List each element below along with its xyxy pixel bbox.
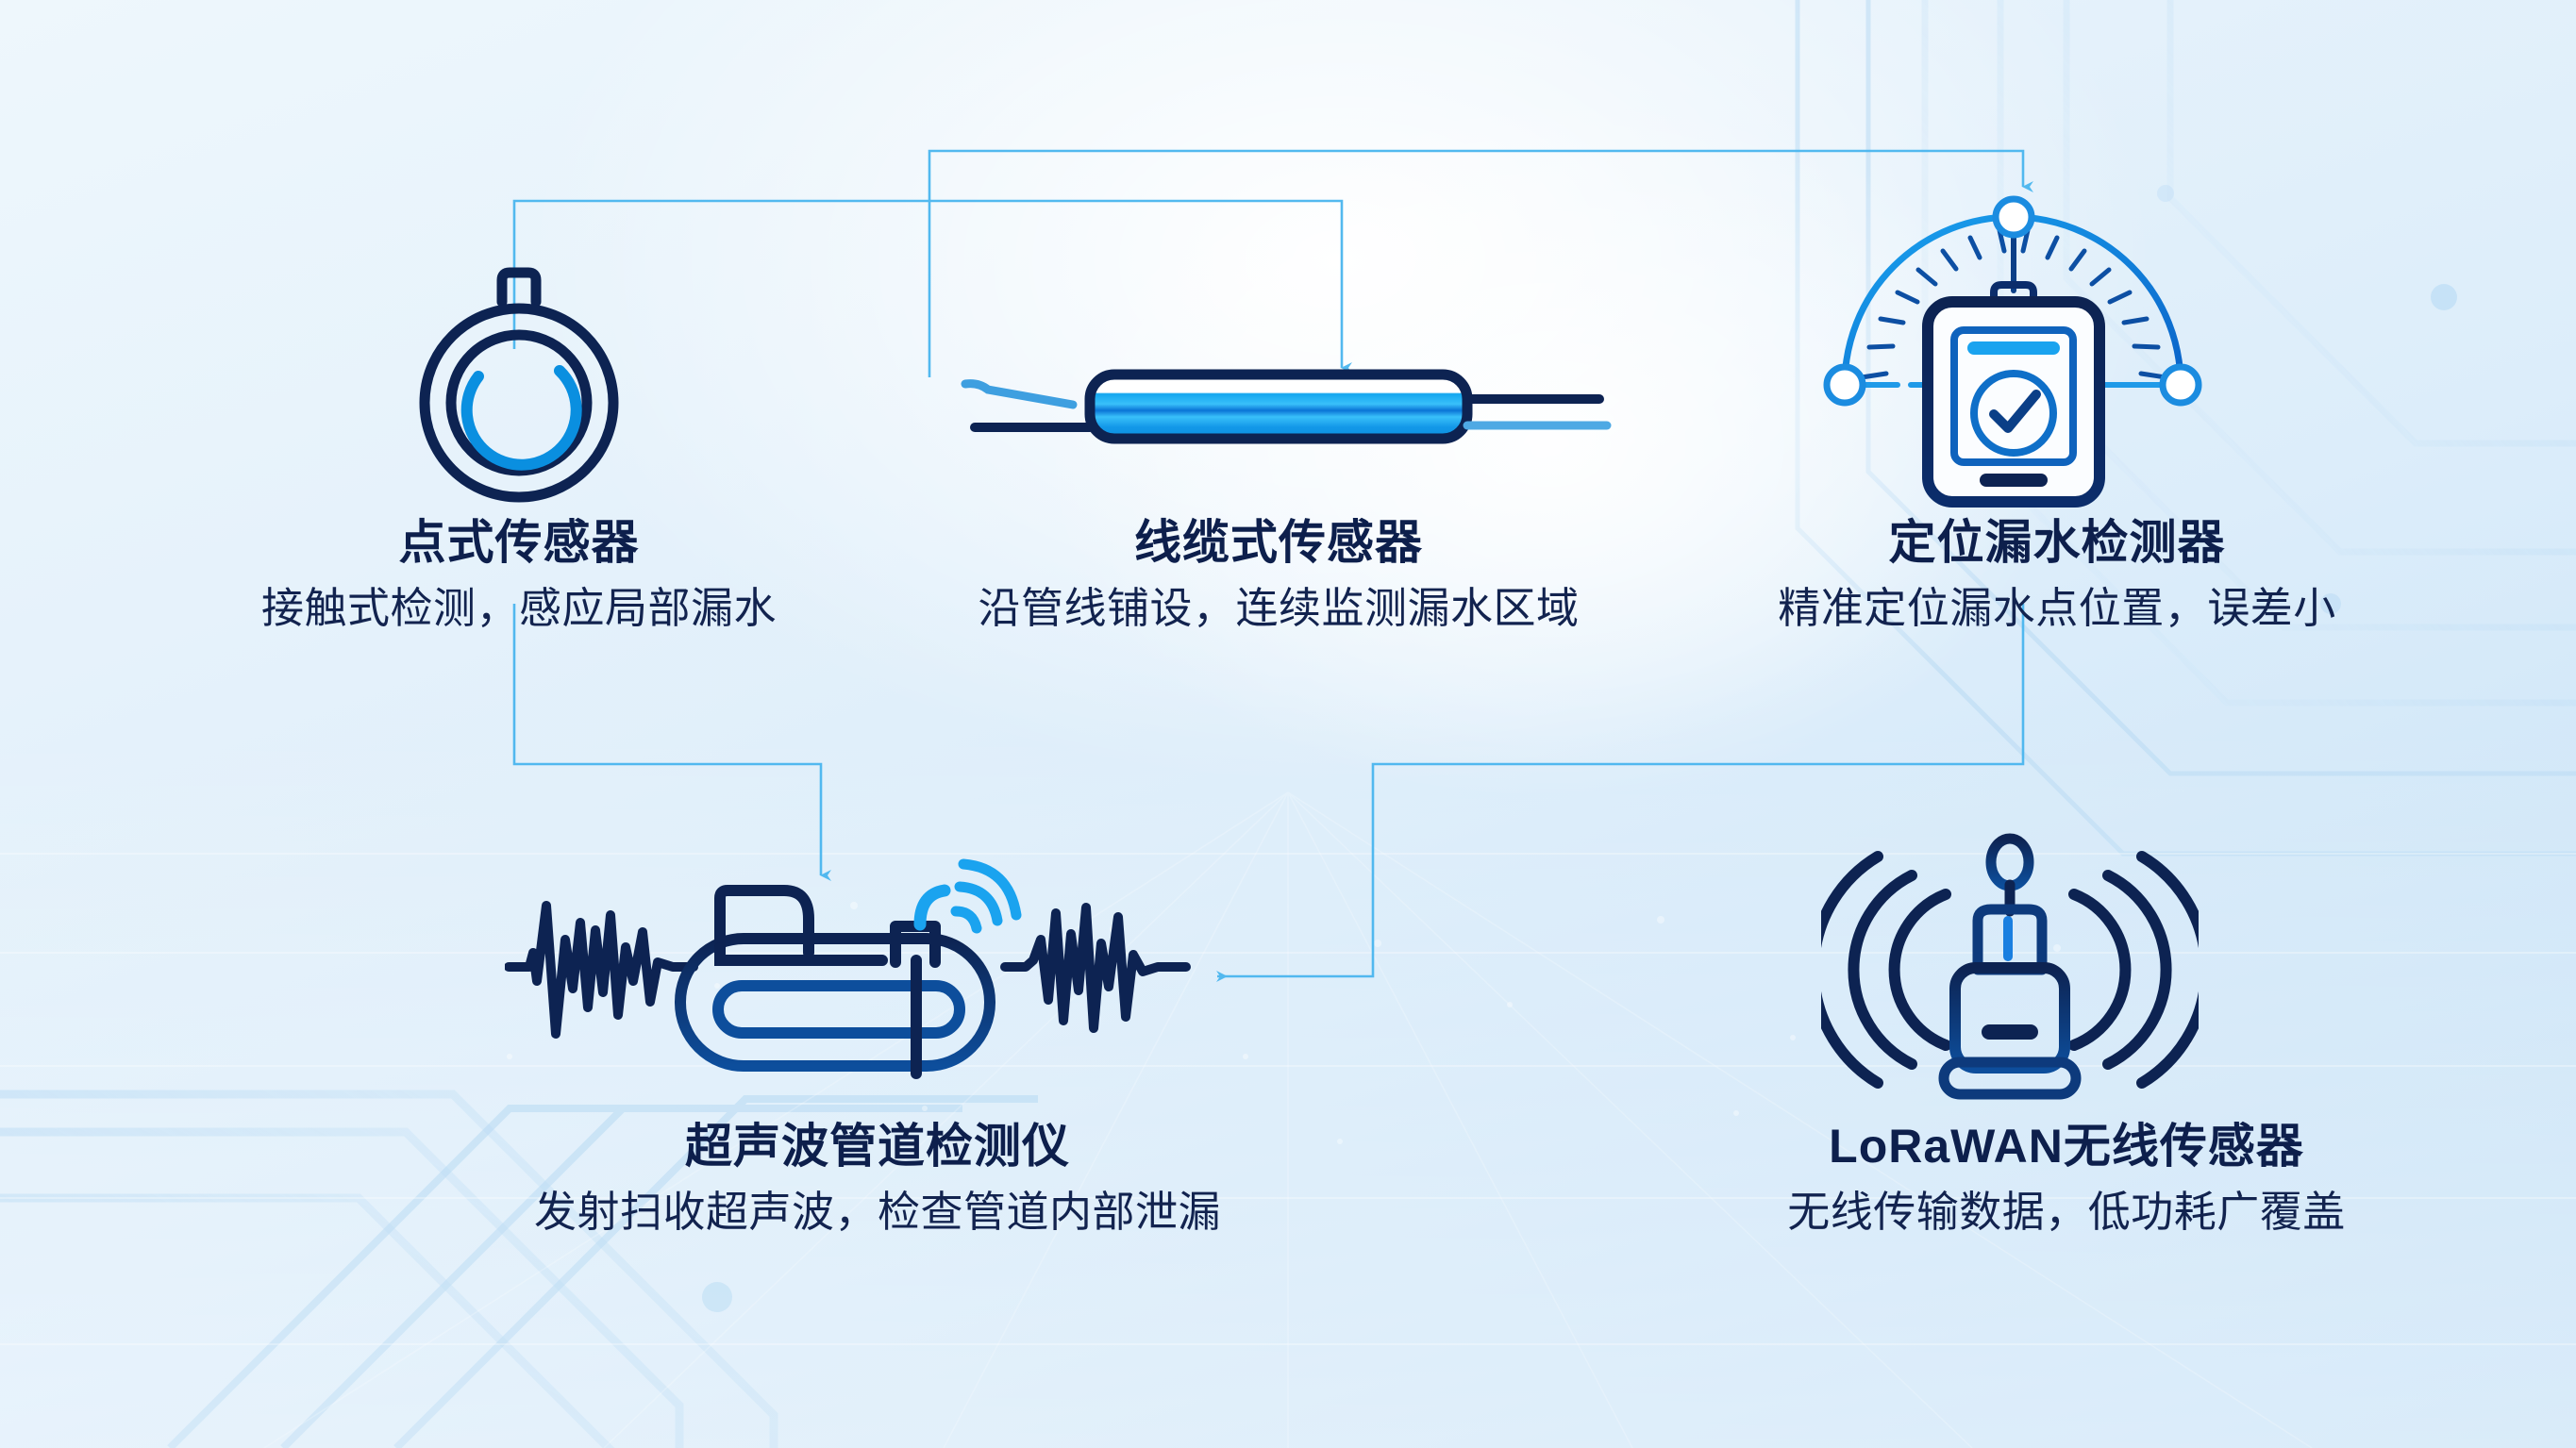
infographic-canvas: 点式传感器 接触式检测，感应局部漏水 线缆式传感器 沿管线铺设，连续监测漏水区域…	[0, 0, 2576, 1448]
card-description: 无线传输数据，低功耗广覆盖	[1661, 1188, 2472, 1237]
card-title: 点式传感器	[132, 517, 906, 569]
gauge-node-left	[1827, 367, 1863, 403]
waveform-right	[1005, 907, 1186, 1028]
cable-sensor-icon	[901, 335, 1618, 458]
ultrasonic-antenna	[920, 890, 945, 924]
gauge-node-right	[2163, 367, 2199, 403]
card-locator-detector: 定位漏水检测器 精准定位漏水点位置，误差小	[1661, 517, 2453, 633]
card-point-sensor: 点式传感器 接触式检测，感应局部漏水	[132, 517, 906, 633]
signal-arcs-right	[2074, 857, 2199, 1083]
waveform-left	[509, 906, 694, 1034]
wifi-icon	[956, 864, 1016, 928]
card-title: 线缆式传感器	[873, 517, 1684, 569]
device-home-bar	[1980, 474, 2048, 487]
signal-arcs-left	[1821, 857, 1946, 1083]
card-ultrasonic-detector: 超声波管道检测仪 发射扫收超声波，检查管道内部泄漏	[453, 1121, 1302, 1237]
point-sensor-blue-arc	[467, 371, 577, 465]
point-sensor-icon	[396, 259, 642, 509]
antenna-tip	[1991, 839, 2029, 886]
device-screen-bar	[1967, 341, 2060, 355]
card-title: LoRaWAN无线传感器	[1661, 1121, 2472, 1173]
card-description: 沿管线铺设，连续监测漏水区域	[873, 584, 1684, 633]
card-description: 发射扫收超声波，检查管道内部泄漏	[453, 1188, 1302, 1237]
cable-sensor-body	[1090, 374, 1467, 439]
antenna-foot	[1944, 1062, 2076, 1094]
ultrasonic-inner-slot	[718, 986, 960, 1033]
gauge-node-top	[1996, 199, 2032, 235]
lorawan-antenna-icon	[1821, 830, 2199, 1104]
card-lorawan-sensor: LoRaWAN无线传感器 无线传输数据，低功耗广覆盖	[1661, 1121, 2472, 1237]
card-title: 定位漏水检测器	[1661, 517, 2453, 569]
card-description: 接触式检测，感应局部漏水	[132, 584, 906, 633]
antenna-base	[1955, 968, 2065, 1068]
card-cable-sensor: 线缆式传感器 沿管线铺设，连续监测漏水区域	[873, 517, 1684, 633]
locator-detector-icon	[1816, 179, 2213, 509]
ultrasonic-detector-icon	[505, 849, 1194, 1104]
cable-lead-blue-left	[965, 384, 1073, 405]
card-description: 精准定位漏水点位置，误差小	[1661, 584, 2453, 633]
antenna-base-slot	[1982, 1024, 2038, 1040]
ultrasonic-bar	[720, 948, 882, 960]
card-title: 超声波管道检测仪	[453, 1121, 1302, 1173]
